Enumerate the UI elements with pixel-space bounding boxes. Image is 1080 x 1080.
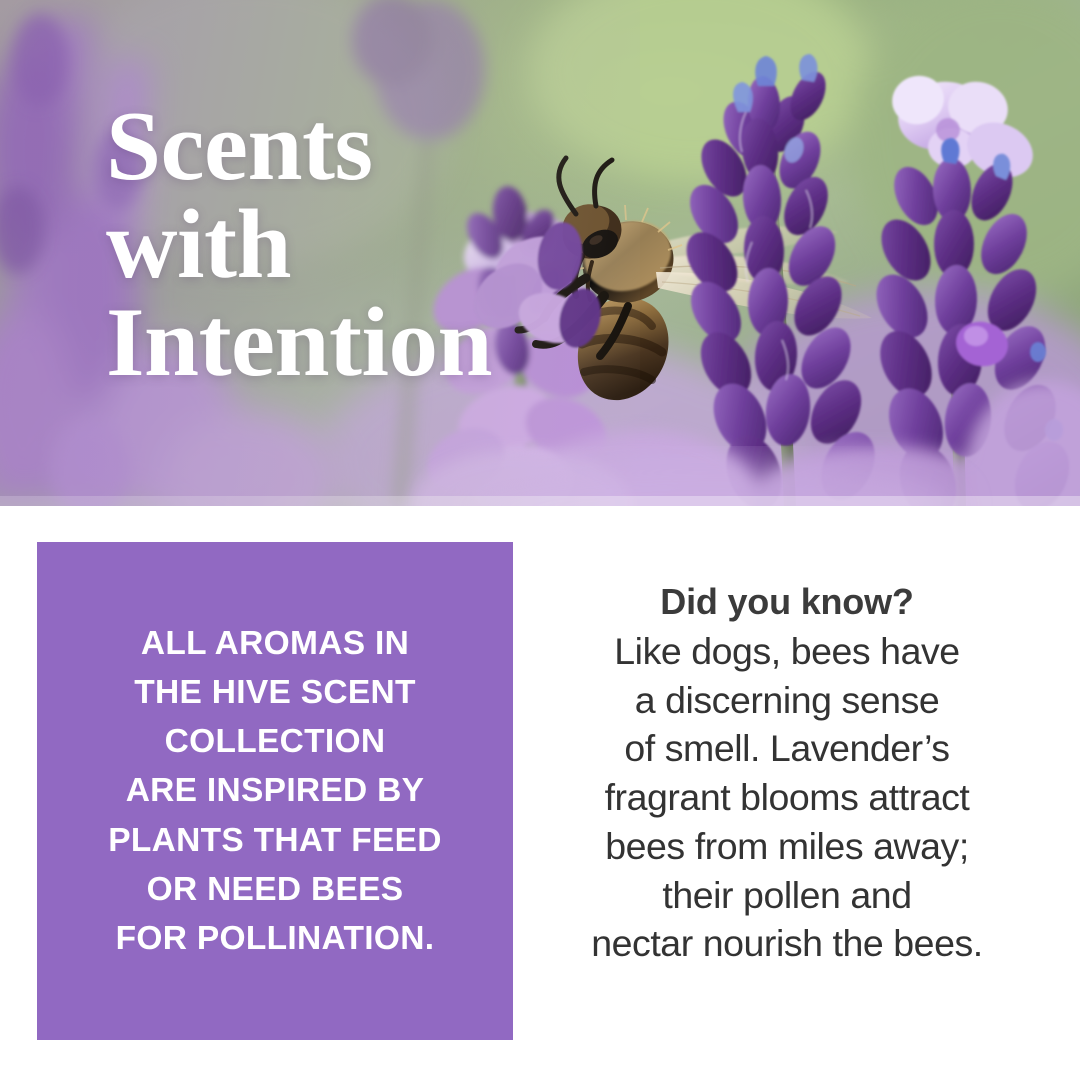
- headline-line-2: with: [106, 196, 626, 294]
- lower-content-section: ALL AROMAS IN THE HIVE SCENT COLLECTION …: [0, 506, 1080, 1080]
- hero-banner: Scents with Intention: [0, 0, 1080, 506]
- collection-statement-text: ALL AROMAS IN THE HIVE SCENT COLLECTION …: [37, 619, 513, 964]
- did-you-know-body: Like dogs, bees have a discerning sense …: [527, 627, 1047, 968]
- headline-line-1: Scents: [106, 98, 626, 196]
- did-you-know-block: Did you know? Like dogs, bees have a dis…: [527, 580, 1047, 968]
- collection-statement-card: ALL AROMAS IN THE HIVE SCENT COLLECTION …: [37, 542, 513, 1040]
- did-you-know-heading: Did you know?: [527, 580, 1047, 624]
- page-title: Scents with Intention: [106, 98, 626, 392]
- headline-line-3: Intention: [106, 294, 626, 392]
